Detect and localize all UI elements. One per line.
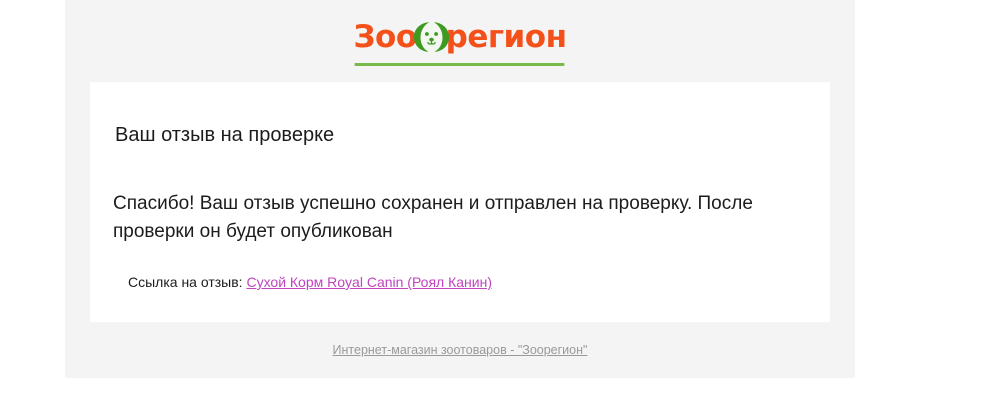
- review-link[interactable]: Сухой Корм Royal Canin (Роял Канин): [246, 274, 492, 290]
- logo-text-left: Зоо: [354, 20, 417, 54]
- page-title: Ваш отзыв на проверке: [115, 124, 334, 147]
- logo-underline-rule: [355, 63, 565, 66]
- message-body-text: Спасибо! Ваш отзыв успешно сохранен и от…: [113, 190, 803, 246]
- site-logo[interactable]: Зоо: [354, 18, 567, 66]
- logo-text-right: регион: [446, 20, 567, 54]
- email-header: Зоо: [65, 0, 855, 82]
- logo-wordmark: Зоо: [354, 18, 567, 56]
- message-card: Ваш отзыв на проверке Спасибо! Ваш отзыв…: [90, 82, 830, 322]
- review-link-row: Ссылка на отзыв: Сухой Корм Royal Canin …: [128, 274, 492, 290]
- review-link-label: Ссылка на отзыв:: [128, 274, 243, 290]
- animal-face-icon: [411, 19, 453, 55]
- email-footer: Интернет-магазин зоотоваров - "Зоорегион…: [65, 322, 855, 378]
- footer-shop-link[interactable]: Интернет-магазин зоотоваров - "Зоорегион…: [333, 343, 588, 357]
- email-page: Зоо: [0, 0, 1000, 400]
